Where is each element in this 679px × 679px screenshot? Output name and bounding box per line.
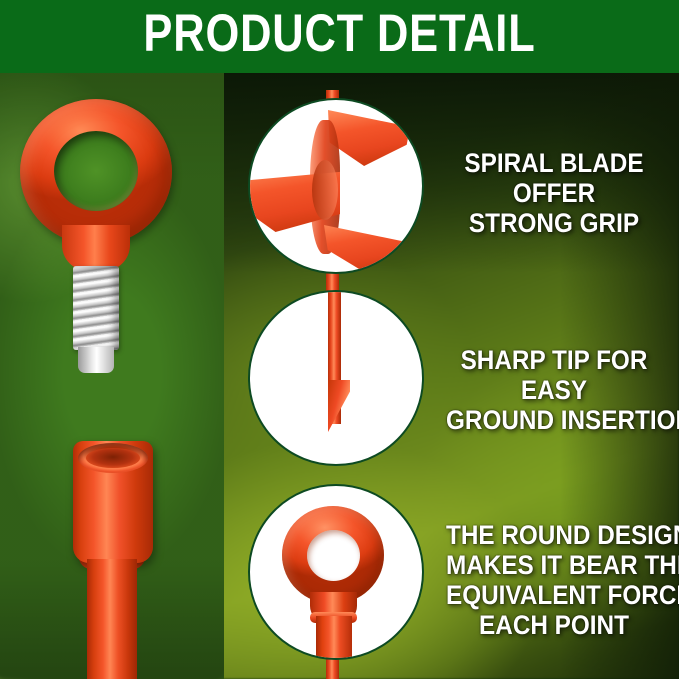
hex-socket-opening — [86, 448, 140, 468]
lower-shaft — [87, 559, 137, 679]
product-detail-infographic: PRODUCT DETAIL — [0, 0, 679, 679]
caption-line: SPIRAL BLADE — [446, 148, 662, 178]
feature-caption-round-design: THE ROUND DESIGN MAKES IT BEAR THE EQUIV… — [446, 520, 662, 640]
caption-line: SHARP TIP FOR — [446, 345, 662, 375]
feature-caption-sharp-tip: SHARP TIP FOR EASY GROUND INSERTION — [446, 345, 662, 435]
caption-line: EQUIVALENT FORCE ON — [446, 580, 662, 610]
threaded-screw-section — [73, 266, 119, 350]
callout-circle-spiral-blade — [248, 98, 424, 274]
caption-line: EACH POINT — [446, 610, 662, 640]
eyelet-neck — [62, 225, 130, 271]
caption-line: GROUND INSERTION — [446, 405, 662, 435]
round-eyelet-hole-icon — [307, 530, 360, 581]
feature-caption-spiral-blade: SPIRAL BLADE OFFER STRONG GRIP — [446, 148, 662, 238]
caption-line: OFFER — [446, 178, 662, 208]
caption-line: MAKES IT BEAR THE — [446, 550, 662, 580]
caption-line: THE ROUND DESIGN — [446, 520, 662, 550]
screw-tip — [78, 347, 114, 373]
caption-line: STRONG GRIP — [446, 208, 662, 238]
caption-line: EASY — [446, 375, 662, 405]
page-title: PRODUCT DETAIL — [61, 0, 618, 73]
callout-circle-round-design — [248, 484, 424, 660]
sharp-tip-bevel-icon — [328, 380, 350, 432]
callout-circle-sharp-tip — [248, 290, 424, 466]
product-photo-panel — [0, 73, 224, 679]
eyelet-ring-hole — [54, 131, 138, 211]
round-eyelet-shaft-icon — [316, 616, 352, 660]
header-banner: PRODUCT DETAIL — [0, 0, 679, 73]
spiral-blade-twist-lower-icon — [312, 160, 338, 220]
